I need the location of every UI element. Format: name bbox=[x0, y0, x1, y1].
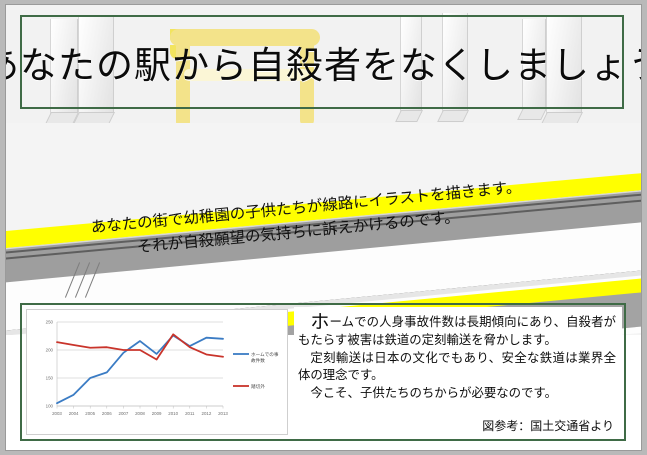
svg-text:2008: 2008 bbox=[135, 411, 145, 416]
svg-text:150: 150 bbox=[46, 376, 54, 381]
poster: あなたの駅から自殺者をなくしましょう あなたの街で幼稚園の子供たちが線路にイラス… bbox=[6, 5, 641, 450]
explanatory-paragraph-1-body: ームでの人身事故件数は長期傾向にあり、自殺者がもたらす被害は鉄道の定刻輸送を脅か… bbox=[298, 315, 616, 347]
svg-text:故件数: 故件数 bbox=[251, 357, 265, 364]
svg-text:2011: 2011 bbox=[185, 411, 195, 416]
svg-text:ホームでの事: ホームでの事 bbox=[251, 351, 279, 358]
explanatory-text: ホームでの人身事故件数は長期傾向にあり、自殺者がもたらす被害は鉄道の定刻輸送を脅… bbox=[294, 307, 622, 439]
dropcap-character: ホ bbox=[310, 312, 329, 333]
chart-svg: 100150200250 200320042005200620072008200… bbox=[27, 310, 287, 434]
svg-text:2006: 2006 bbox=[102, 411, 112, 416]
explanatory-paragraph-3: 今こそ、子供たちのちからが必要なのです。 bbox=[298, 385, 616, 403]
svg-text:踏切外: 踏切外 bbox=[251, 383, 265, 390]
source-credit: 図参考：国土交通省より bbox=[482, 418, 614, 435]
svg-text:2010: 2010 bbox=[168, 411, 178, 416]
svg-text:2009: 2009 bbox=[152, 411, 162, 416]
svg-text:2003: 2003 bbox=[52, 411, 62, 416]
svg-text:2012: 2012 bbox=[202, 411, 212, 416]
accident-statistics-chart: 100150200250 200320042005200620072008200… bbox=[26, 309, 288, 435]
explanatory-paragraph-2: 定刻輸送は日本の文化でもあり、安全な鉄道は業界全体の理念です。 bbox=[298, 350, 616, 385]
svg-text:2004: 2004 bbox=[69, 411, 79, 416]
svg-text:2013: 2013 bbox=[218, 411, 228, 416]
svg-text:100: 100 bbox=[46, 404, 54, 409]
svg-text:250: 250 bbox=[46, 320, 54, 325]
page-title: あなたの駅から自殺者をなくしましょう bbox=[22, 17, 626, 107]
svg-text:2005: 2005 bbox=[85, 411, 95, 416]
explanatory-paragraph-1: ホームでの人身事故件数は長期傾向にあり、自殺者がもたらす被害は鉄道の定刻輸送を脅… bbox=[298, 313, 616, 350]
title-band: あなたの駅から自殺者をなくしましょう bbox=[20, 15, 624, 109]
svg-text:2007: 2007 bbox=[119, 411, 129, 416]
svg-text:200: 200 bbox=[46, 348, 54, 353]
bottom-panel: 100150200250 200320042005200620072008200… bbox=[20, 303, 626, 441]
